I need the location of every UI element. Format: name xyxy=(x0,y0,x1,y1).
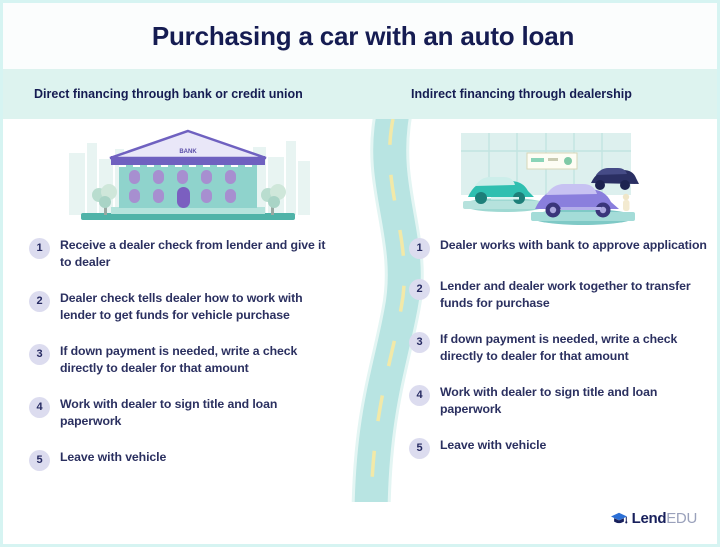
step-number-badge: 5 xyxy=(409,438,430,459)
step-label: Work with dealer to sign title and loan … xyxy=(60,396,339,430)
step-item: 1 Receive a dealer check from lender and… xyxy=(29,237,339,271)
step-label: Work with dealer to sign title and loan … xyxy=(440,384,709,418)
logo-text-lend: Lend xyxy=(632,510,667,527)
step-number-badge: 5 xyxy=(29,450,50,471)
step-label: If down payment is needed, write a check… xyxy=(60,343,339,377)
step-number-badge: 4 xyxy=(409,385,430,406)
title-band: Purchasing a car with an auto loan xyxy=(3,3,720,69)
footer: Lend EDU xyxy=(3,502,720,544)
step-label: Dealer check tells dealer how to work wi… xyxy=(60,290,339,324)
page-title: Purchasing a car with an auto loan xyxy=(152,21,574,52)
step-label: Dealer works with bank to approve applic… xyxy=(440,237,707,254)
step-label: If down payment is needed, write a check… xyxy=(440,331,709,365)
step-label: Leave with vehicle xyxy=(440,437,546,454)
column-header-band: Direct financing through bank or credit … xyxy=(3,69,720,119)
car-dealership-showroom-illustration xyxy=(443,125,648,230)
step-item: 3 If down payment is needed, write a che… xyxy=(29,343,339,377)
step-number-badge: 2 xyxy=(409,279,430,300)
person-figure xyxy=(623,194,630,211)
column-header-right: Indirect financing through dealership xyxy=(411,87,632,101)
step-item: 5 Leave with vehicle xyxy=(29,449,339,471)
step-number-badge: 1 xyxy=(409,238,430,259)
step-number-badge: 3 xyxy=(409,332,430,353)
step-item: 1 Dealer works with bank to approve appl… xyxy=(409,237,709,259)
body-area: BANK xyxy=(3,119,720,544)
step-number-badge: 2 xyxy=(29,291,50,312)
infographic-canvas: Purchasing a car with an auto loan Direc… xyxy=(0,0,720,547)
step-item: 2 Dealer check tells dealer how to work … xyxy=(29,290,339,324)
logo-text-edu: EDU xyxy=(666,510,697,527)
step-label: Leave with vehicle xyxy=(60,449,166,466)
step-number-badge: 3 xyxy=(29,344,50,365)
graduation-cap-icon xyxy=(610,511,628,527)
column-header-left: Direct financing through bank or credit … xyxy=(34,87,303,101)
step-item: 5 Leave with vehicle xyxy=(409,437,709,459)
step-item: 4 Work with dealer to sign title and loa… xyxy=(29,396,339,430)
bank-building-illustration: BANK xyxy=(63,125,313,230)
road-lane-marking xyxy=(371,119,404,544)
step-label: Lender and dealer work together to trans… xyxy=(440,278,709,312)
step-item: 3 If down payment is needed, write a che… xyxy=(409,331,709,365)
lendedu-logo: Lend EDU xyxy=(610,510,697,527)
step-item: 2 Lender and dealer work together to tra… xyxy=(409,278,709,312)
step-item: 4 Work with dealer to sign title and loa… xyxy=(409,384,709,418)
steps-list-left: 1 Receive a dealer check from lender and… xyxy=(29,237,339,490)
steps-list-right: 1 Dealer works with bank to approve appl… xyxy=(409,237,709,478)
step-label: Receive a dealer check from lender and g… xyxy=(60,237,339,271)
step-number-badge: 1 xyxy=(29,238,50,259)
bank-pediment-label: BANK xyxy=(179,149,197,155)
step-number-badge: 4 xyxy=(29,397,50,418)
